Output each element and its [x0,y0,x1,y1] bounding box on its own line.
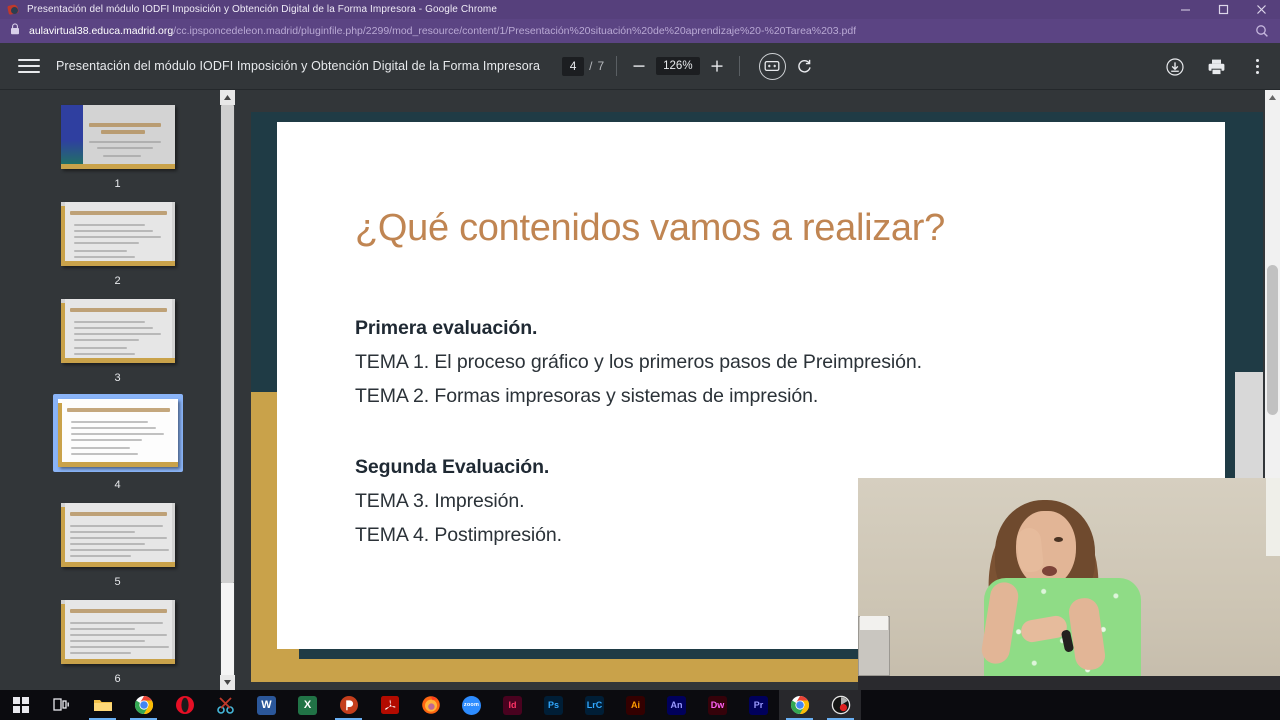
video-paper-stack [860,616,888,630]
more-options-icon[interactable] [1246,56,1268,78]
sidebar-scroll-down-arrow[interactable] [220,675,235,690]
adobe-animate[interactable]: An [656,690,697,720]
url-path: /cc.ipsponcedeleon.madrid/pluginfile.php… [173,25,856,37]
thumb-text-line [74,230,153,232]
thumb-text-line [74,236,161,238]
thumbnail-list: 123456 [0,90,235,685]
thumbnail-page-5[interactable]: 5 [0,501,235,588]
toolbar-divider-1 [616,56,617,76]
adobe-app-icon: An [667,696,686,715]
thumb-text-line [70,652,131,654]
mozilla-firefox[interactable] [410,690,451,720]
pdf-viewer-toolbar: Presentación del módulo IODFI Imposición… [0,43,1280,90]
block-line: TEMA 2. Formas impresoras y sistemas de … [355,385,922,408]
slide-block-segunda: Segunda Evaluación. TEMA 3. Impresión. T… [355,456,562,558]
print-icon[interactable] [1205,56,1227,78]
thumb-gold-bar [61,164,175,169]
toolbar-right-actions [1164,43,1268,90]
page-number-input[interactable] [562,57,584,76]
hamburger-menu-icon[interactable] [18,58,40,74]
thumb-text-line [74,353,135,355]
thumb-title-line [70,211,167,215]
thumb-text-line [70,525,163,527]
thumb-title-line [70,308,167,312]
thumb-gold-bar [61,562,175,567]
thumbnail-page-2[interactable]: 2 [0,200,235,287]
url-domain: aulavirtual38.educa.madrid.org [29,25,173,37]
chrome-window[interactable] [779,690,820,720]
block-line: TEMA 4. Postimpresión. [355,524,562,547]
thumbnail-preview [61,299,175,363]
start-button[interactable] [0,690,41,720]
video-whiteboard [1266,478,1280,556]
thumb-text-line [71,421,148,423]
page-navigation: / 7 [562,57,604,76]
thumb-text-line [70,640,145,642]
thumb-gold-bar [61,358,175,363]
adobe-acrobat[interactable] [369,690,410,720]
adobe-illustrator[interactable]: Ai [615,690,656,720]
thumbnail-preview [61,202,175,266]
thumbnail-page-6[interactable]: 6 [0,598,235,685]
adobe-app-icon: Ps [544,696,563,715]
google-chrome[interactable] [123,690,164,720]
zoom-meetings[interactable]: zoom [451,690,492,720]
browser-tab-title: Presentación del módulo IODFI Imposición… [27,4,497,15]
windows-taskbar: WXzoomIdPsLrCAiAnDwPr [0,690,1280,720]
window-controls [1166,0,1280,19]
snipping-tool[interactable] [205,690,246,720]
thumb-text-line [70,537,167,539]
thumbnail-page-number: 4 [114,479,120,491]
thumbnail-sidebar[interactable]: 123456 [0,90,235,690]
thumb-title-line [101,130,145,134]
slide-block-primera: Primera evaluación. TEMA 1. El proceso g… [355,317,922,419]
adobe-app-icon: LrC [585,696,604,715]
zoom-in-button[interactable] [707,56,727,76]
block-heading: Segunda Evaluación. [355,456,562,479]
sidebar-scroll-up-arrow[interactable] [220,90,235,105]
adobe-dreamweaver[interactable]: Dw [697,690,738,720]
thumbnail-frame [59,501,177,569]
thumb-text-line [74,333,161,335]
thumb-text-line [70,555,131,557]
thumb-text-line [70,549,169,551]
task-view-button[interactable] [41,690,82,720]
thumb-text-line [89,141,161,143]
thumb-title-line [70,512,167,516]
video-desk [858,676,1280,690]
thumb-text-line [74,242,139,244]
block-line: TEMA 3. Impresión. [355,490,562,513]
toolbar-divider-2 [739,56,740,76]
thumb-text-line [74,327,153,329]
thumbnail-page-number: 1 [114,178,120,190]
thumb-text-line [74,224,145,226]
fit-to-page-icon[interactable] [759,53,786,80]
thumb-title-line [70,609,167,613]
thumb-text-line [97,147,153,149]
thumbnail-preview [61,503,175,567]
video-mouth [1042,566,1057,576]
thumbnail-page-number: 3 [114,372,120,384]
video-eye-right [1054,537,1063,542]
thumb-text-line [74,256,135,258]
adobe-app-icon: Ai [626,696,645,715]
adobe-photoshop[interactable]: Ps [533,690,574,720]
thumbnail-page-1[interactable]: 1 [0,103,235,190]
thumbnail-page-number: 6 [114,673,120,685]
thumb-gold-bar [58,462,178,467]
screen-recorder[interactable] [820,690,861,720]
adobe-app-icon: Id [503,696,522,715]
block-heading: Primera evaluación. [355,317,922,340]
thumbnail-frame [59,598,177,666]
thumb-title-line [89,123,161,127]
page-scroll-thumb[interactable] [1267,265,1278,415]
rotate-icon[interactable] [794,55,816,77]
thumb-gold-bar [61,261,175,266]
adobe-app-icon: Pr [749,696,768,715]
address-bar[interactable]: aulavirtual38.educa.madrid.org/cc.ipspon… [0,19,1280,43]
thumb-text-line [71,433,164,435]
zoom-app-icon: zoom [462,696,481,715]
url-text: aulavirtual38.educa.madrid.org/cc.ipspon… [29,25,856,37]
sidebar-scrollbar[interactable] [220,90,235,690]
block-line: TEMA 1. El proceso gráfico y los primero… [355,351,922,374]
windows-logo-icon [13,697,29,713]
thumb-text-line [74,339,139,341]
thumb-text-line [70,628,135,630]
thumb-text-line [74,321,145,323]
sidebar-scroll-thumb[interactable] [221,105,234,583]
thumb-text-line [74,250,127,252]
slide-title: ¿Qué contenidos vamos a realizar? [355,207,945,250]
thumb-text-line [71,427,156,429]
thumb-text-line [103,155,141,157]
adobe-lightroom-classic[interactable]: LrC [574,690,615,720]
browser-title-bar: Presentación del módulo IODFI Imposición… [0,0,1280,19]
thumb-text-line [71,439,142,441]
thumbnail-page-number: 5 [114,576,120,588]
thumb-gold-bar [61,659,175,664]
thumbnail-frame [59,200,177,268]
lock-icon [10,22,20,40]
thumbnail-page-4[interactable]: 4 [0,394,235,491]
search-zoom-icon[interactable] [1254,23,1270,39]
thumb-text-line [74,347,127,349]
thumbnail-preview [61,600,175,664]
sidebar-scroll-track[interactable] [221,583,234,675]
thumbnail-frame [59,297,177,365]
thumbnail-frame [59,103,177,171]
zoom-out-button[interactable] [629,56,649,76]
zoom-level-value[interactable]: 126% [656,57,699,75]
maximize-button[interactable] [1204,0,1242,19]
thumb-text-line [70,634,167,636]
thumbnail-frame [53,394,183,472]
thumb-text-line [71,453,138,455]
thumb-title-line [67,408,170,412]
adobe-premiere-pro[interactable]: Pr [738,690,779,720]
thumb-cover-band [61,105,83,169]
microsoft-word[interactable]: W [246,690,287,720]
thumbnail-page-number: 2 [114,275,120,287]
thumbnail-page-3[interactable]: 3 [0,297,235,384]
pdf-favicon [7,3,20,16]
page-scroll-up-arrow[interactable] [1265,90,1280,105]
sign-language-interpreter-video[interactable] [858,478,1280,690]
pdf-document-title: Presentación del módulo IODFI Imposición… [56,59,540,73]
microsoft-powerpoint[interactable] [328,690,369,720]
thumb-text-line [70,622,163,624]
file-explorer[interactable] [82,690,123,720]
thumb-text-line [70,646,169,648]
page-separator: / [589,59,592,73]
minimize-button[interactable] [1166,0,1204,19]
download-icon[interactable] [1164,56,1186,78]
thumbnail-preview [61,105,175,169]
app-tile-icon: W [257,696,276,715]
opera-browser[interactable] [164,690,205,720]
thumbnail-preview [58,399,178,467]
app-tile-icon: X [298,696,317,715]
microsoft-excel[interactable]: X [287,690,328,720]
thumb-text-line [70,531,135,533]
thumb-text-line [71,447,130,449]
total-pages-label: 7 [597,59,604,73]
screen: Presentación del módulo IODFI Imposición… [0,0,1280,720]
adobe-app-icon: Dw [708,696,727,715]
close-button[interactable] [1242,0,1280,19]
thumb-text-line [70,543,145,545]
adobe-indesign[interactable]: Id [492,690,533,720]
